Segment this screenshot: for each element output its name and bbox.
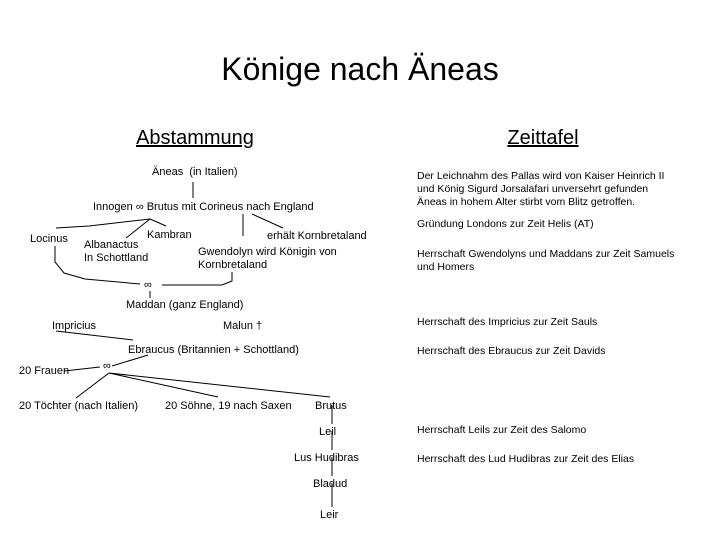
connector-corineus-to-kornbretaland — [252, 214, 283, 228]
connector-frauen-to-marriage2 — [64, 367, 100, 371]
tree-node-impricius: Impricius — [52, 320, 96, 333]
timeline-entry-tl-pallas: Der Leichnahm des Pallas wird von Kaiser… — [417, 170, 664, 208]
connector-marriage2-to-toechter — [76, 373, 109, 398]
column-heading-zeittafel: Zeittafel — [466, 127, 620, 150]
timeline-entry-tl-london: Gründung Londons zur Zeit Helis (AT) — [417, 218, 594, 231]
tree-node-maddan: Maddan (ganz England) — [126, 299, 243, 312]
slide-canvas: Könige nach Äneas Abstammung Zeittafel Ä… — [0, 0, 720, 540]
timeline-entry-tl-impricius: Herrschaft des Impricius zur Zeit Sauls — [417, 316, 597, 329]
tree-node-marriage2: ∞ — [103, 360, 111, 373]
timeline-entry-tl-ebraucus: Herrschaft des Ebraucus zur Zeit Davids — [417, 345, 606, 358]
column-heading-abstammung: Abstammung — [108, 127, 282, 150]
tree-node-innogen: Innogen ∞ Brutus mit Corineus nach Engla… — [93, 201, 314, 214]
tree-node-ebraucus: Ebraucus (Britannien + Schottland) — [128, 344, 299, 357]
timeline-entry-tl-ludhudibras: Herrschaft des Lud Hudibras zur Zeit des… — [417, 453, 634, 466]
connector-marriage2-to-soehne — [109, 373, 218, 397]
connector-fan-apex-to-locinus — [56, 219, 150, 228]
tree-node-leir: Leir — [320, 509, 338, 522]
timeline-entry-tl-leil: Herrschaft Leils zur Zeit des Salomo — [417, 424, 586, 437]
connector-gwendolyn-to-marriage — [162, 272, 232, 285]
timeline-entry-tl-gwendolyn: Herrschaft Gwendolyns und Maddans zur Ze… — [417, 248, 674, 274]
tree-node-gwendolyn: Gwendolyn wird Königin von Kornbretaland — [198, 246, 337, 272]
tree-node-aeneas: Äneas (in Italien) — [152, 166, 238, 179]
tree-node-albanactus: Albanactus In Schottland — [84, 239, 148, 265]
tree-node-lushudibras: Lus Hudibras — [294, 452, 359, 465]
tree-node-leil: Leil — [319, 426, 336, 439]
connector-fan-apex-to-kambran — [150, 219, 166, 226]
tree-node-frauen20: 20 Frauen — [19, 365, 69, 378]
tree-node-toechter20: 20 Töchter (nach Italien) — [19, 400, 138, 413]
connector-marriage2-to-brutus — [109, 373, 330, 397]
tree-node-kornbretaland: erhält Kornbretaland — [267, 230, 367, 243]
tree-node-brutus2: Brutus — [315, 400, 347, 413]
tree-node-locinus: Locinus — [30, 233, 68, 246]
tree-node-malun: Malun † — [223, 320, 262, 333]
tree-node-kambran: Kambran — [147, 229, 192, 242]
tree-node-soehne20: 20 Söhne, 19 nach Saxen — [165, 400, 292, 413]
tree-node-marriage1: ∞ — [144, 279, 152, 292]
tree-node-bladud: Bladud — [313, 478, 347, 491]
page-title: Könige nach Äneas — [0, 50, 720, 88]
